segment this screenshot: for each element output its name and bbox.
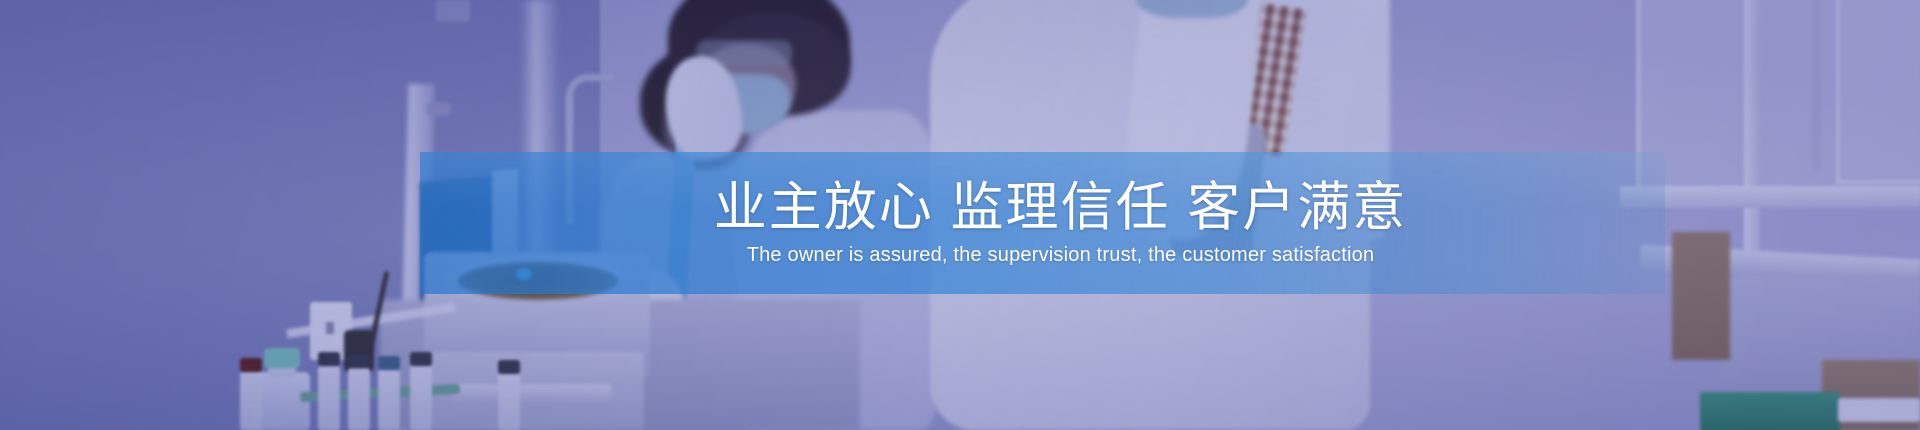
slogan-subline: The owner is assured, the supervision tr…	[711, 243, 1375, 267]
slogan-text-group: 业主放心 监理信任 客户满意 The owner is assured, the…	[420, 152, 1665, 294]
hero-banner: 业主放心 监理信任 客户满意 The owner is assured, the…	[0, 0, 1920, 430]
slogan-headline: 业主放心 监理信任 客户满意	[678, 179, 1407, 236]
